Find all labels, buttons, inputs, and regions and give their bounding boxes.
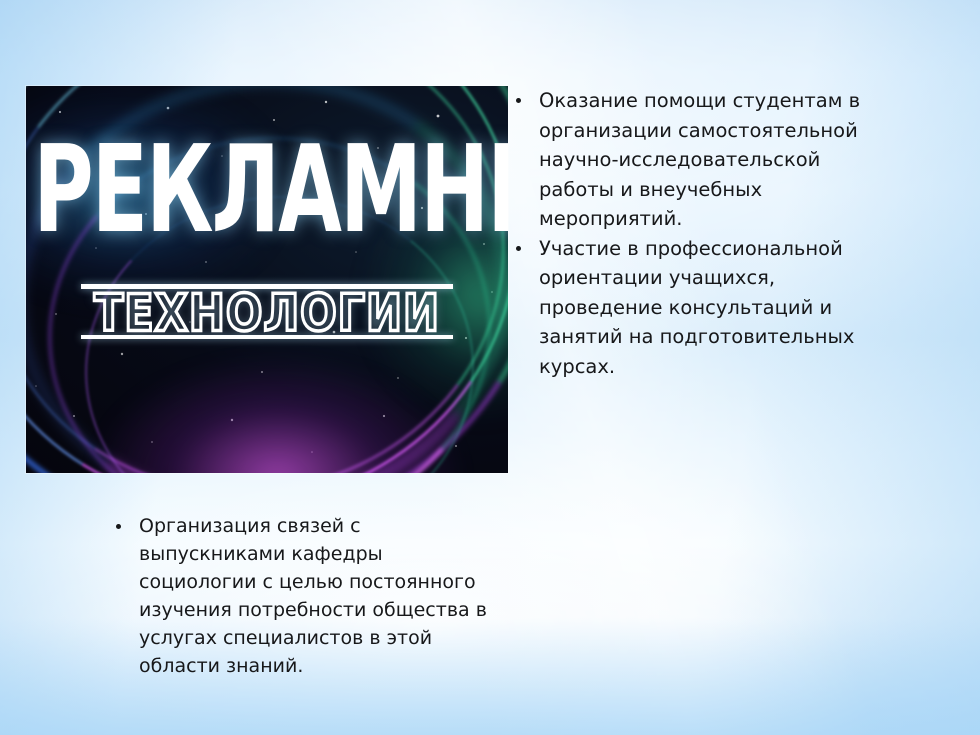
bullet-list-bottom: Организация связей с выпускниками кафедр… xyxy=(105,512,505,680)
poster-title-primary: РЕКЛАМНЫЕ xyxy=(33,136,501,247)
presentation-slide: РЕКЛАМНЫЕ ТЕХНОЛОГИИ Оказание помощи сту… xyxy=(0,0,980,735)
advertising-technologies-poster: РЕКЛАМНЫЕ ТЕХНОЛОГИИ xyxy=(26,86,508,473)
bullet-item: Оказание помощи студентам в организации … xyxy=(505,86,890,234)
bullet-list-right: Оказание помощи студентам в организации … xyxy=(505,86,890,381)
poster-subtitle-wrap: ТЕХНОЛОГИИ xyxy=(26,289,508,341)
poster-title-group: РЕКЛАМНЫЕ ТЕХНОЛОГИИ xyxy=(26,136,508,339)
bullet-item: Организация связей с выпускниками кафедр… xyxy=(105,512,505,680)
poster-title-secondary: ТЕХНОЛОГИИ xyxy=(26,285,508,344)
bullet-item: Участие в профессиональной ориентации уч… xyxy=(505,234,890,382)
